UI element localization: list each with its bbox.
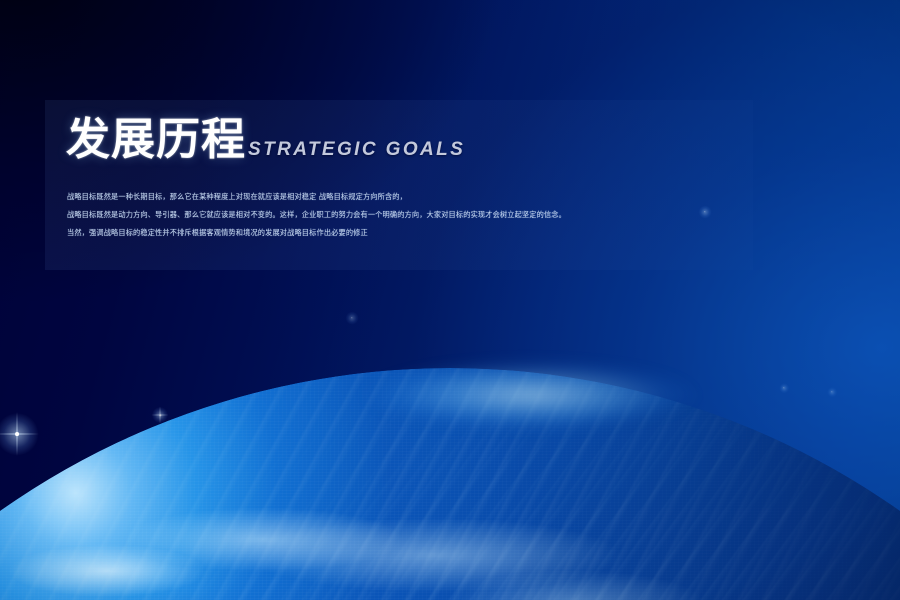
body-line-3: 当然，强调战略目标的稳定性并不排斥根据客观情势和境况的发展对战略目标作出必要的修… — [67, 224, 727, 242]
headline-group: 发展历程 STRATEGIC GOALS — [66, 118, 465, 162]
body-line-1: 战略目标既然是一种长期目标，那么它在某种程度上对现在就应该是相对稳定 战略目标规… — [67, 188, 727, 206]
body-copy: 战略目标既然是一种长期目标，那么它在某种程度上对现在就应该是相对稳定 战略目标规… — [67, 188, 727, 242]
page-title: 发展历程 — [66, 118, 246, 162]
banner-canvas: 发展历程 STRATEGIC GOALS 战略目标既然是一种长期目标，那么它在某… — [0, 0, 900, 600]
body-line-2: 战略目标既然是动力方向、导引器、那么它就应该是相对不变的。这样，企业职工的努力会… — [67, 206, 727, 224]
page-subtitle: STRATEGIC GOALS — [248, 140, 465, 159]
